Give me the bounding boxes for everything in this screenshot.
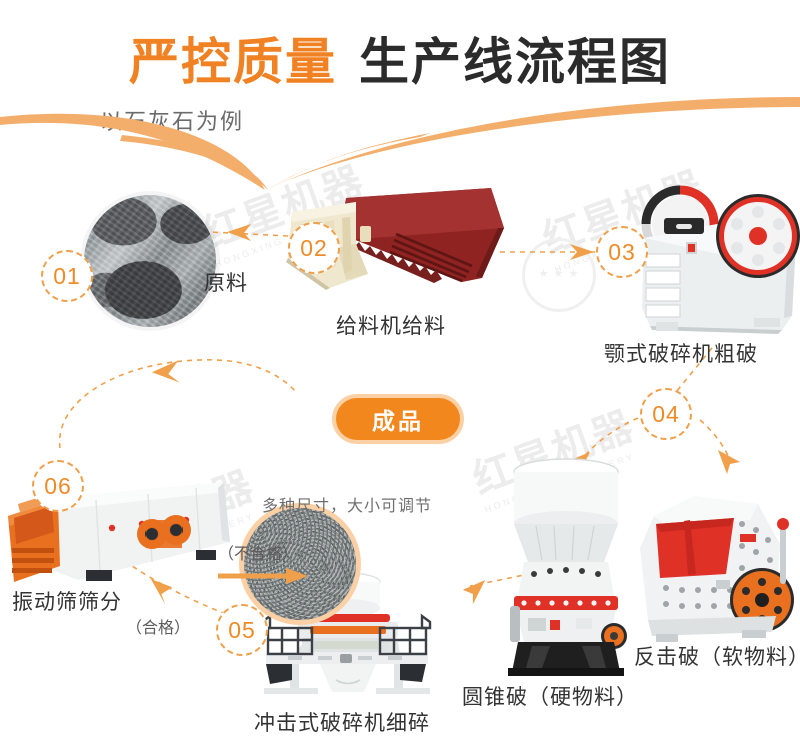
title-main-text: 生产线流程图: [359, 33, 671, 91]
step-number-05: 05: [228, 617, 256, 644]
step-number-04: 04: [652, 401, 680, 428]
finished-product-label: 成品: [372, 402, 424, 436]
step-label-05: 冲击式破碎机细碎: [254, 707, 430, 737]
reject-label: （不合格）: [218, 540, 298, 564]
watermark-seal: [522, 238, 596, 312]
finished-product-note: 多种尺寸，大小可调节: [262, 492, 432, 516]
finished-product-badge: 成品: [336, 398, 460, 440]
crushed-aggregate-photo: [244, 508, 356, 620]
step-badge-04[interactable]: 04: [640, 388, 692, 440]
reject-arrow-icon: [216, 566, 310, 586]
step-badge-05[interactable]: 05: [216, 604, 268, 656]
pass-label: （合格）: [126, 614, 190, 638]
step-label-01: 原料: [204, 267, 248, 297]
step-number-02: 02: [300, 235, 328, 262]
step-number-03: 03: [608, 239, 636, 266]
title-accent-text: 严控质量: [129, 33, 337, 91]
step-number-06: 06: [44, 473, 72, 500]
branch-label-cone: 圆锥破（硬物料）: [462, 681, 638, 711]
limestone-rock-photo: [84, 195, 216, 327]
step-badge-03[interactable]: 03: [596, 226, 648, 278]
step-badge-01[interactable]: 01: [41, 250, 93, 302]
step-badge-06[interactable]: 06: [32, 460, 84, 512]
step-label-02: 给料机给料: [336, 310, 446, 340]
aggregate-texture: [244, 508, 356, 620]
step-label-06: 振动筛筛分: [12, 586, 122, 616]
rock-texture: [84, 195, 216, 327]
page-title: 严控质量生产线流程图: [0, 22, 800, 94]
branch-label-impact: 反击破（软物料）: [634, 641, 800, 671]
step-label-03: 颚式破碎机粗破: [604, 338, 758, 368]
jaw-crusher-photo: [628, 180, 800, 340]
step-badge-02[interactable]: 02: [288, 222, 340, 274]
flowchart-canvas: 严控质量生产线流程图 以石灰石为例 红星机器HONGXING MACHINERY…: [0, 0, 800, 750]
impact-crusher-photo: [630, 490, 800, 650]
step-number-01: 01: [53, 263, 81, 290]
cone-crusher-photo: [492, 450, 640, 680]
